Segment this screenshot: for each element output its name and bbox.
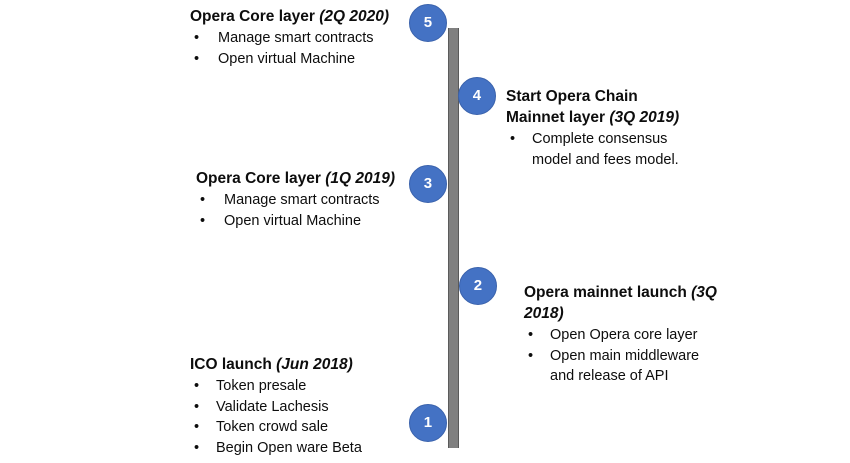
list-item: • Open virtual Machine	[190, 49, 400, 70]
bullet-icon: •	[194, 49, 199, 70]
milestone-node-3[interactable]: 3	[409, 165, 447, 203]
bullet-text: Validate Lachesis	[216, 399, 329, 415]
list-item: • Validate Lachesis	[190, 397, 400, 418]
list-item: • Open main middleware and release of AP…	[524, 346, 724, 387]
list-item: • Manage smart contracts	[190, 28, 400, 49]
milestone-period-3: (1Q 2019)	[325, 170, 395, 187]
bullet-icon: •	[194, 28, 199, 49]
list-item: • Begin Open ware Beta	[190, 438, 400, 459]
list-item: • Open virtual Machine	[196, 211, 400, 232]
bullet-icon: •	[200, 211, 205, 232]
milestone-node-2[interactable]: 2	[459, 267, 497, 305]
bullet-text: Token presale	[216, 378, 306, 394]
bullet-icon: •	[194, 376, 199, 397]
milestone-block-4: Start Opera Chain Mainnet layer (3Q 2019…	[506, 86, 696, 170]
milestone-heading-1: ICO launch (Jun 2018)	[190, 354, 400, 375]
milestone-title-2: Opera mainnet launch	[524, 284, 687, 301]
bullet-icon: •	[528, 346, 533, 367]
milestone-bullets-1: • Token presale • Validate Lachesis • To…	[190, 376, 400, 458]
milestone-bullets-5: • Manage smart contracts • Open virtual …	[190, 28, 400, 69]
list-item: • Open Opera core layer	[524, 325, 724, 346]
list-item: • Complete consensus model and fees mode…	[506, 129, 696, 170]
milestone-title-1: ICO launch	[190, 356, 272, 373]
milestone-period-5: (2Q 2020)	[319, 8, 389, 25]
timeline-diagram: 5 4 3 2 1 Opera Core layer (2Q 2020) • M…	[0, 0, 850, 463]
bullet-icon: •	[194, 397, 199, 418]
milestone-heading-4: Start Opera Chain Mainnet layer (3Q 2019…	[506, 86, 696, 128]
milestone-node-1[interactable]: 1	[409, 404, 447, 442]
bullet-text: Begin Open ware Beta	[216, 440, 362, 456]
bullet-text: Open virtual Machine	[224, 213, 361, 229]
list-item: • Token crowd sale	[190, 417, 400, 438]
milestone-node-5[interactable]: 5	[409, 4, 447, 42]
list-item: • Manage smart contracts	[196, 190, 400, 211]
milestone-block-5: Opera Core layer (2Q 2020) • Manage smar…	[190, 6, 400, 69]
bullet-icon: •	[510, 129, 515, 150]
bullet-text: Complete consensus model and fees model.	[532, 131, 679, 168]
milestone-bullets-4: • Complete consensus model and fees mode…	[506, 129, 696, 170]
milestone-heading-5: Opera Core layer (2Q 2020)	[190, 6, 400, 27]
bullet-text: Open virtual Machine	[218, 51, 355, 67]
milestone-node-4[interactable]: 4	[458, 77, 496, 115]
milestone-heading-3: Opera Core layer (1Q 2019)	[196, 168, 400, 189]
milestone-period-1: (Jun 2018)	[276, 356, 353, 373]
milestone-title-3: Opera Core layer	[196, 170, 321, 187]
bullet-text: Open main middleware and release of API	[550, 348, 699, 385]
bullet-text: Manage smart contracts	[224, 192, 380, 208]
milestone-block-1: ICO launch (Jun 2018) • Token presale • …	[190, 354, 400, 458]
bullet-icon: •	[194, 438, 199, 459]
milestone-heading-2: Opera mainnet launch (3Q 2018)	[524, 282, 724, 324]
milestone-bullets-2: • Open Opera core layer • Open main midd…	[524, 325, 724, 387]
bullet-icon: •	[194, 417, 199, 438]
bullet-icon: •	[528, 325, 533, 346]
milestone-period-4: (3Q 2019)	[609, 109, 679, 126]
milestone-block-3: Opera Core layer (1Q 2019) • Manage smar…	[196, 168, 400, 231]
bullet-text: Token crowd sale	[216, 419, 328, 435]
bullet-text: Manage smart contracts	[218, 30, 374, 46]
timeline-axis-bar	[448, 28, 459, 448]
milestone-title-5: Opera Core layer	[190, 8, 315, 25]
bullet-text: Open Opera core layer	[550, 327, 698, 343]
list-item: • Token presale	[190, 376, 400, 397]
bullet-icon: •	[200, 190, 205, 211]
milestone-block-2: Opera mainnet launch (3Q 2018) • Open Op…	[524, 282, 724, 387]
milestone-bullets-3: • Manage smart contracts • Open virtual …	[196, 190, 400, 231]
